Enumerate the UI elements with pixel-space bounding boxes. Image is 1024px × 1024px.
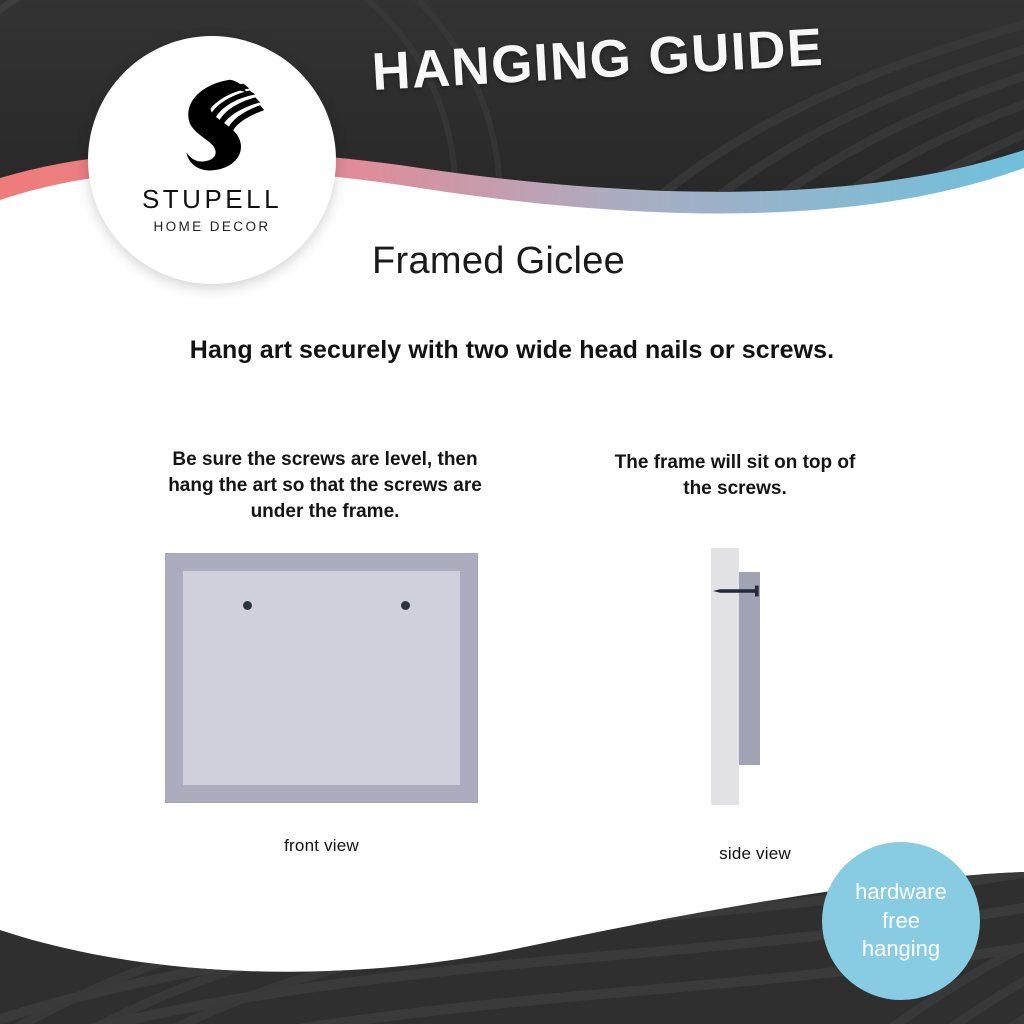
logo-tagline: HOME DECOR (153, 219, 270, 234)
product-type-label: Framed Giclee (372, 240, 625, 283)
side-view-diagram (700, 540, 810, 815)
side-view-caption: The frame will sit on top of the screws. (600, 450, 870, 502)
logo-wordmark: STUPELL (142, 184, 282, 215)
badge-line-1: hardware (855, 878, 947, 907)
stupell-swoosh-mark (153, 62, 271, 180)
badge-line-3: hanging (862, 935, 940, 964)
hanging-guide-page: STUPELL HOME DECOR HANGING GUIDE Framed … (0, 0, 1024, 1024)
stupell-logo-badge: STUPELL HOME DECOR (88, 36, 336, 284)
page-title: HANGING GUIDE (370, 17, 825, 103)
front-view-label: front view (165, 836, 478, 856)
front-view-caption: Be sure the screws are level, then hang … (155, 447, 495, 526)
wide-head-nail-icon (712, 584, 766, 598)
front-view-diagram (165, 553, 478, 803)
side-view-frame (739, 572, 760, 765)
screw-dot-left (243, 601, 252, 610)
badge-line-2: free (882, 907, 920, 936)
lead-instruction-text: Hang art securely with two wide head nai… (0, 336, 1024, 365)
side-view-label: side view (672, 844, 838, 864)
front-view-mat (183, 571, 460, 785)
screw-dot-right (401, 601, 410, 610)
hardware-free-hanging-badge: hardware free hanging (822, 842, 980, 1000)
